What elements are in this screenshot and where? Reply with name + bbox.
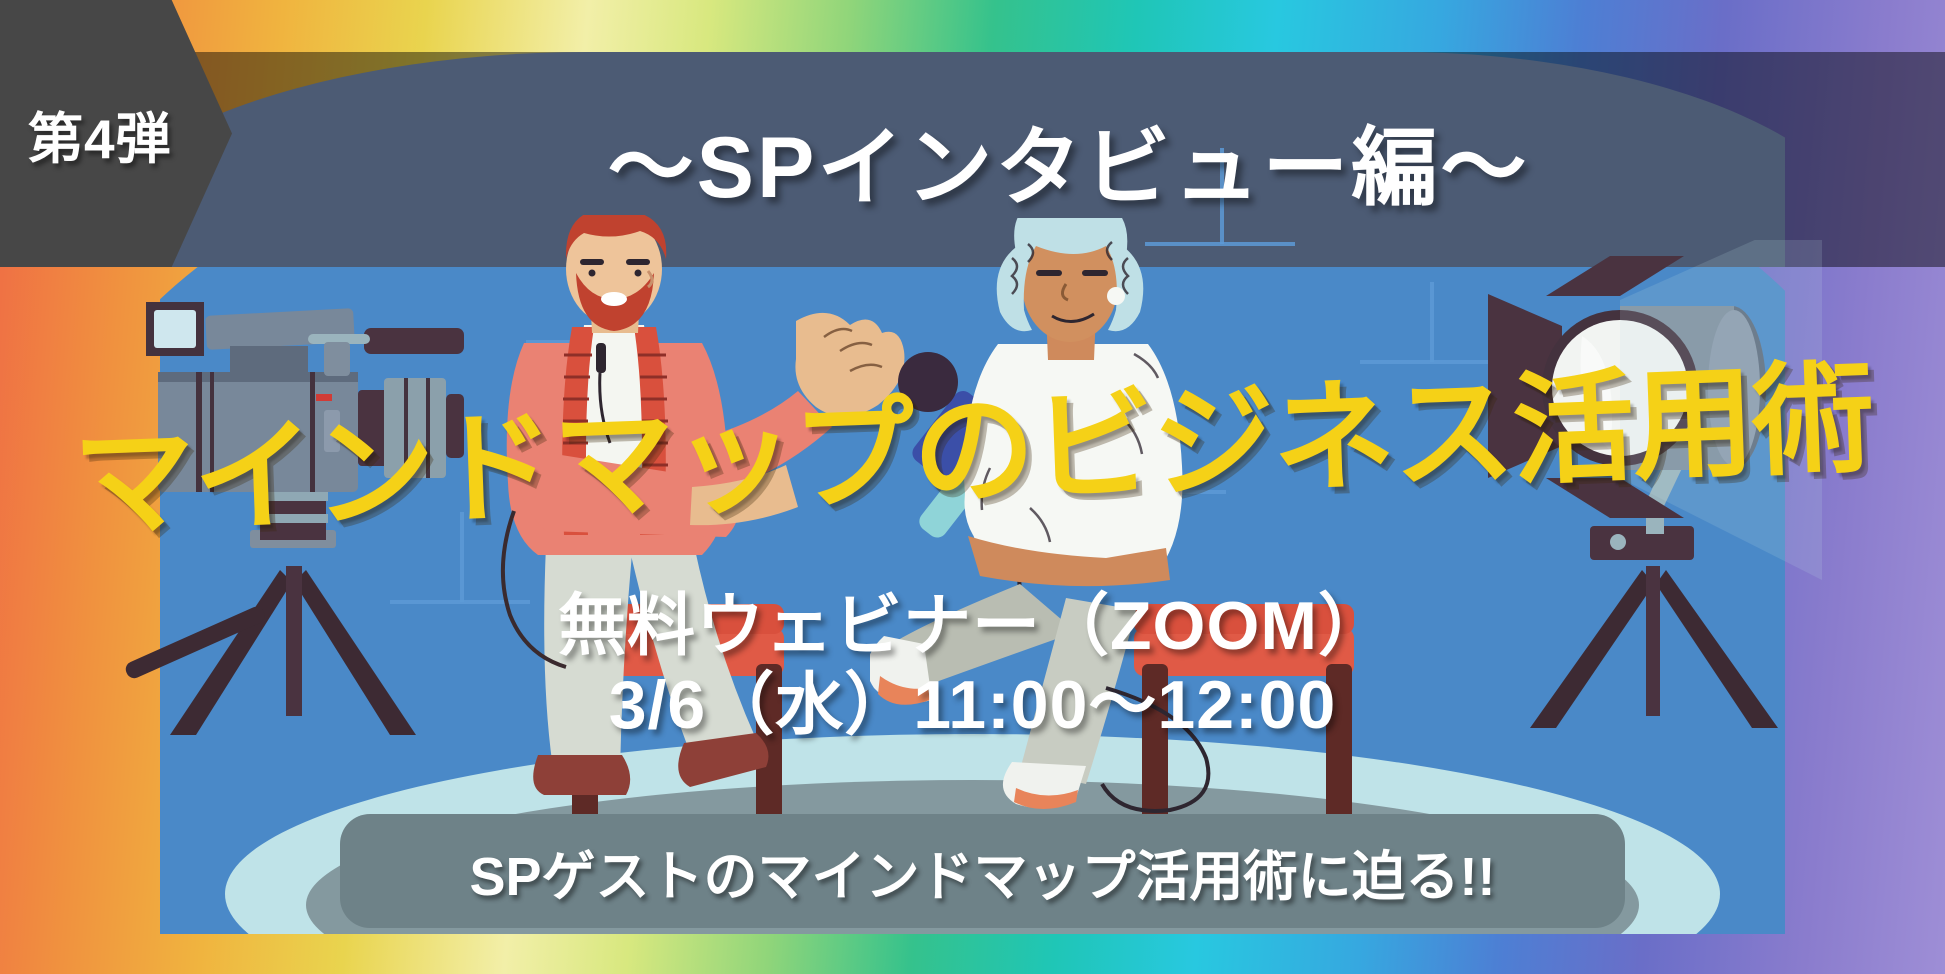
header-title-text: 〜SPインタビュー編〜 [608,97,1530,222]
wall-line [1150,492,1154,578]
wall-line [590,342,594,424]
wall-line [460,512,464,602]
webinar-details: 無料ウェビナー（ZOOM） 3/6（水）11:00〜12:00 [0,590,1945,748]
webinar-datetime-line: 3/6（水）11:00〜12:00 [0,663,1945,747]
bottom-ribbon-text: SPゲストのマインドマップ活用術に迫る!! [470,832,1496,911]
bottom-ribbon: SPゲストのマインドマップ活用術に迫る!! [340,814,1625,928]
wall-line [526,340,656,344]
header-title: 〜SPインタビュー編〜 [232,52,1945,267]
wall-line [1430,282,1434,362]
wall-line [1076,490,1226,494]
webinar-format-line: 無料ウェビナー（ZOOM） [0,590,1945,663]
wall-line [1360,360,1500,364]
webinar-promo-banner: 第4弾 〜SPインタビュー編〜 マインドマップのビジネス活用術 無料ウェビナー（… [0,0,1945,974]
episode-badge-label: 第4弾 [28,94,172,174]
